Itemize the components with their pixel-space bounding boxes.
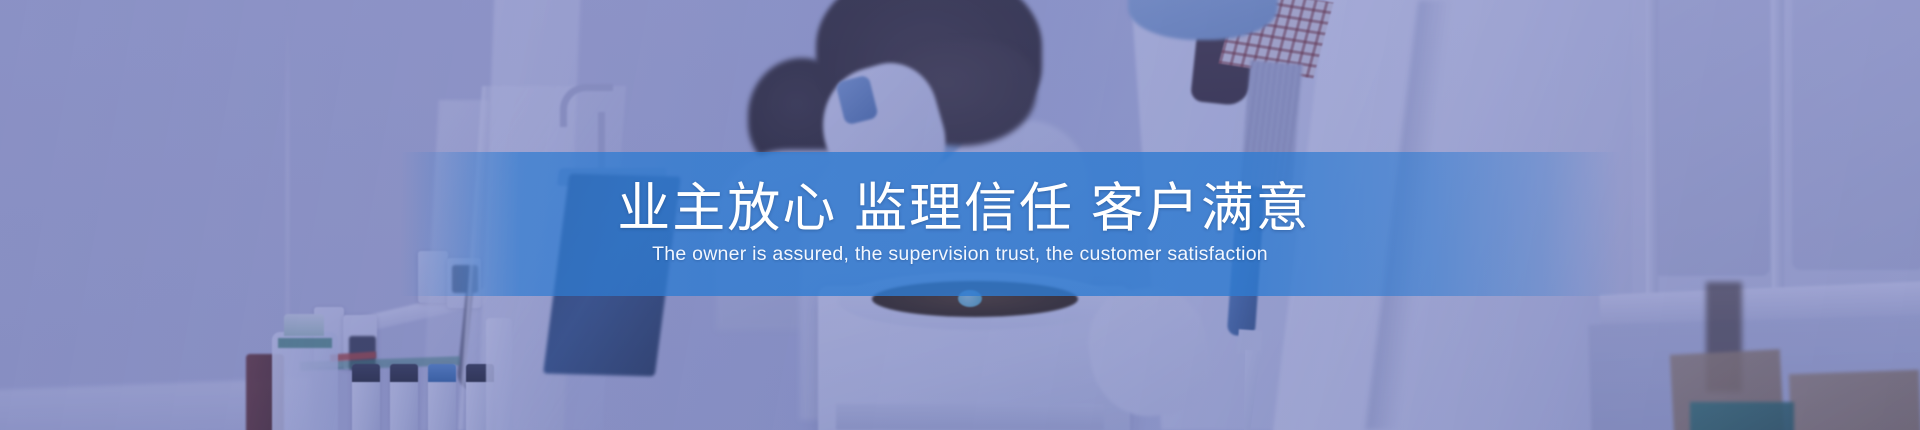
banner-subheadline: The owner is assured, the supervision tr… [652, 243, 1268, 266]
banner-headline: 业主放心 监理信任 客户满意 [609, 181, 1310, 237]
slogan-block: 业主放心 监理信任 客户满意 The owner is assured, the… [0, 152, 1920, 296]
hero-banner: 业主放心 监理信任 客户满意 The owner is assured, the… [0, 0, 1920, 430]
